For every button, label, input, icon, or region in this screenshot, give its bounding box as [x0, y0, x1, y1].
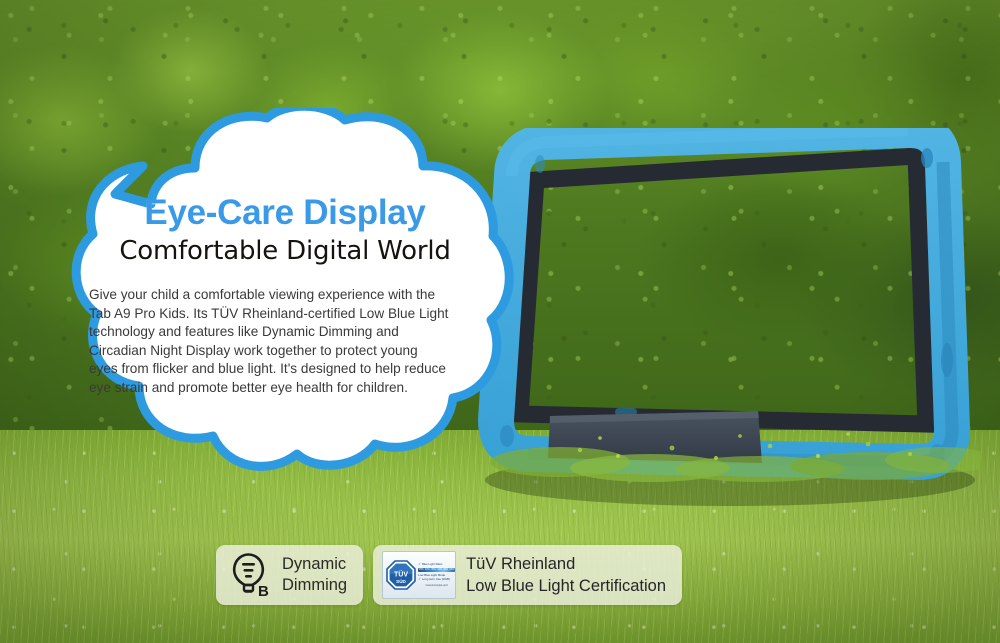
- badge-tuv-line2: Low Blue Light Certification: [466, 575, 666, 597]
- cloud-speech-bubble: Eye-Care Display Comfortable Digital Wor…: [45, 108, 525, 498]
- case-side-notch-right: [941, 343, 953, 377]
- tuv-sud-octagon-icon: TÜV SÜD: [386, 560, 416, 590]
- lightbulb-icon: B: [229, 552, 271, 598]
- poster-stage: Eye-Care Display Comfortable Digital Wor…: [0, 0, 1000, 643]
- tuv-mark-item: ✓ Blue Light Ratio: [418, 563, 455, 567]
- certification-badges: B Dynamic Dimming TÜV SÜD: [216, 545, 682, 605]
- badge-tuv-line1: TüV Rheinland: [466, 553, 666, 575]
- svg-text:TÜV: TÜV: [394, 570, 408, 579]
- check-icon: ✓: [418, 578, 421, 582]
- badge-tuv-rheinland: TÜV SÜD ✓ Blue Light Ratio 25% 30% 35% 4…: [373, 545, 682, 605]
- badge-dd-line2: Dimming: [282, 575, 347, 596]
- tuv-mark-details: ✓ Blue Light Ratio 25% 30% 35% 40% 45% 5…: [416, 563, 455, 587]
- tuv-ratio-bar: 25% 30% 35% 40% 45% 50%: [418, 568, 455, 572]
- subheadline: Comfortable Digital World: [75, 236, 495, 266]
- tuv-mark-url: tuvsud.com/ps-cert: [418, 584, 455, 587]
- case-corner-notch-top-left: [535, 155, 545, 173]
- svg-text:SÜD: SÜD: [396, 578, 406, 584]
- badge-dynamic-dimming: B Dynamic Dimming: [216, 545, 363, 605]
- tuv-mark-item: ✓ Long term Use (RGB): [418, 578, 455, 582]
- badge-dd-line1: Dynamic: [282, 554, 347, 575]
- check-icon: ✓: [418, 563, 421, 567]
- badge-dynamic-dimming-text: Dynamic Dimming: [282, 554, 347, 596]
- case-corner-notch-top-right: [921, 148, 933, 168]
- dimming-grade-letter: B: [258, 583, 269, 598]
- headline: Eye-Care Display: [90, 193, 480, 233]
- badge-tuv-text: TüV Rheinland Low Blue Light Certificati…: [466, 553, 666, 597]
- tuv-certification-mark: TÜV SÜD ✓ Blue Light Ratio 25% 30% 35% 4…: [382, 551, 456, 599]
- body-paragraph: Give your child a comfortable viewing ex…: [89, 286, 449, 398]
